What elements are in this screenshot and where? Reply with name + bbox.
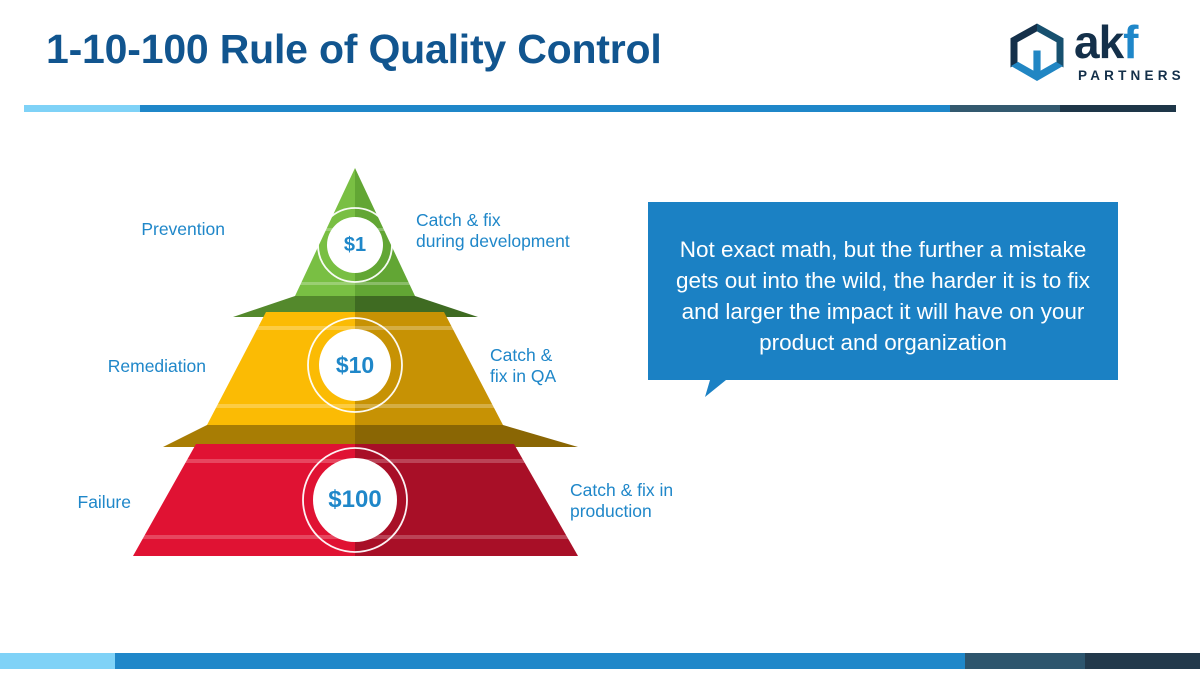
akf-partners-logo: akf PARTNERS bbox=[1006, 18, 1178, 90]
remediation-right-label-line1: Catch & bbox=[490, 345, 610, 366]
rule-top-seg-dark-navy bbox=[1060, 105, 1176, 112]
remediation-amount-text: $10 bbox=[336, 352, 374, 379]
failure-left-label-text: Failure bbox=[78, 492, 132, 512]
rule-top-seg-slate-blue bbox=[950, 105, 1060, 112]
callout-text: Not exact math, but the further a mistak… bbox=[670, 234, 1096, 358]
logo-wordmark: akf bbox=[1074, 18, 1138, 66]
prevention-right-label: Catch & fix during development bbox=[416, 210, 606, 252]
prevention-amount: $1 bbox=[327, 217, 383, 273]
logo-word-light: f bbox=[1123, 16, 1137, 68]
failure-amount-text: $100 bbox=[328, 486, 381, 514]
failure-right-label-line2: production bbox=[570, 501, 710, 522]
failure-amount: $100 bbox=[313, 458, 397, 542]
remediation-left-label-text: Remediation bbox=[108, 356, 206, 376]
rule-bottom-seg-dark-navy bbox=[1085, 653, 1200, 669]
prevention-left-label-text: Prevention bbox=[141, 219, 225, 239]
prevention-amount-text: $1 bbox=[344, 234, 366, 257]
prevention-right-label-line1: Catch & fix bbox=[416, 210, 606, 231]
remediation-amount: $10 bbox=[319, 329, 391, 401]
remediation-right-label-line2: fix in QA bbox=[490, 366, 610, 387]
remediation-tier-shadow-right bbox=[355, 425, 578, 447]
logo-subtitle: PARTNERS bbox=[1078, 68, 1185, 83]
remediation-right-label: Catch & fix in QA bbox=[490, 345, 610, 387]
failure-right-label-line1: Catch & fix in bbox=[570, 480, 710, 501]
prevention-left-label: Prevention bbox=[100, 219, 225, 240]
remediation-tier-shadow-left bbox=[163, 425, 355, 447]
prevention-right-label-line2: during development bbox=[416, 231, 606, 252]
logo-word-dark: ak bbox=[1074, 16, 1123, 68]
failure-right-label: Catch & fix in production bbox=[570, 480, 710, 522]
callout-box: Not exact math, but the further a mistak… bbox=[648, 202, 1118, 397]
pyramid-diagram: $1 $10 $100 Prevention Remediation Failu… bbox=[0, 0, 700, 675]
failure-left-label: Failure bbox=[20, 492, 131, 513]
akf-cube-icon bbox=[1006, 20, 1068, 86]
rule-bottom-seg-slate-blue bbox=[965, 653, 1085, 669]
remediation-left-label: Remediation bbox=[50, 356, 206, 377]
